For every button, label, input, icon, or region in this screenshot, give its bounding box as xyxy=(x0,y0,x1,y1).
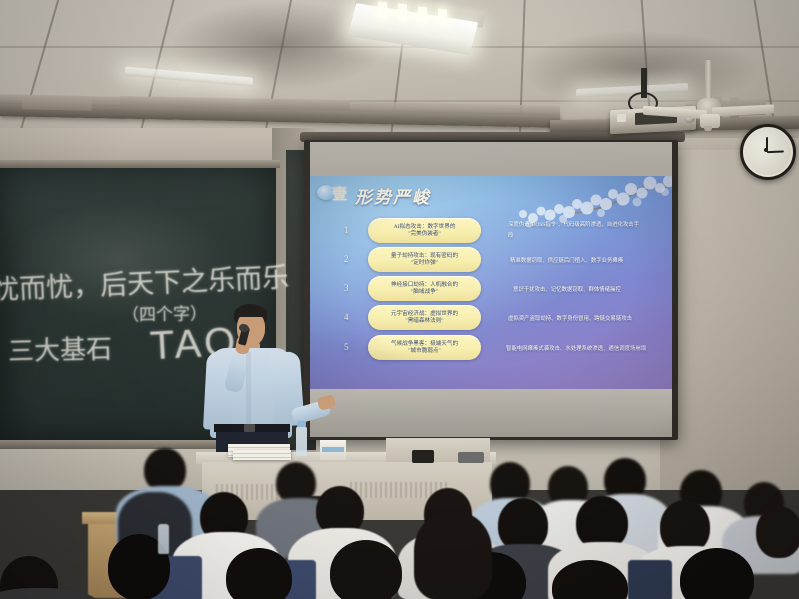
audience-shoulders-near xyxy=(0,588,100,599)
screen-surface-bottom xyxy=(310,389,672,437)
light-tube xyxy=(398,3,407,20)
presentation-slide: 壹 形势严峻 1 AI拟态攻击：数字世界的 "完美伪装者" 深度伪造"BOSS指… xyxy=(310,176,672,389)
wall-right xyxy=(660,150,799,490)
chair-back xyxy=(628,560,672,599)
light-tube xyxy=(378,1,387,18)
fan-finial xyxy=(704,126,712,131)
presenter-hairline xyxy=(235,306,267,317)
stacked-books-2 xyxy=(233,450,291,460)
tissue-box-label xyxy=(322,447,344,452)
light-tube xyxy=(418,6,427,23)
wall-outlet xyxy=(60,540,72,554)
lecture-hall-photo: 忧而忧，后天下之乐而乐 （四个字） 三大基石 TAO xyxy=(0,0,799,599)
shirt-placket xyxy=(246,352,251,434)
audience-head-near xyxy=(330,540,402,599)
audience-head-long-hair xyxy=(414,512,492,599)
blackboard-frame-top xyxy=(0,160,280,168)
projector-indicator xyxy=(617,114,626,122)
clock-center xyxy=(764,148,768,152)
light-tube xyxy=(438,8,447,25)
belt-buckle xyxy=(244,424,255,432)
water-bottle xyxy=(296,426,307,456)
screen-surface-top xyxy=(310,142,672,176)
ceiling-seam-h xyxy=(0,46,799,48)
slide-vignette xyxy=(310,176,672,389)
audience-head-near xyxy=(226,548,292,599)
beam-bracket xyxy=(22,95,92,110)
fan-rod xyxy=(705,60,712,102)
bottle-cap xyxy=(297,421,306,427)
chalkboard-line-3: 三大基石 xyxy=(8,329,113,369)
podium-device-2 xyxy=(458,452,484,463)
audience-head xyxy=(756,506,799,558)
podium-device xyxy=(412,450,434,463)
audience-water-bottle xyxy=(158,524,169,554)
wall-clock xyxy=(740,124,796,180)
